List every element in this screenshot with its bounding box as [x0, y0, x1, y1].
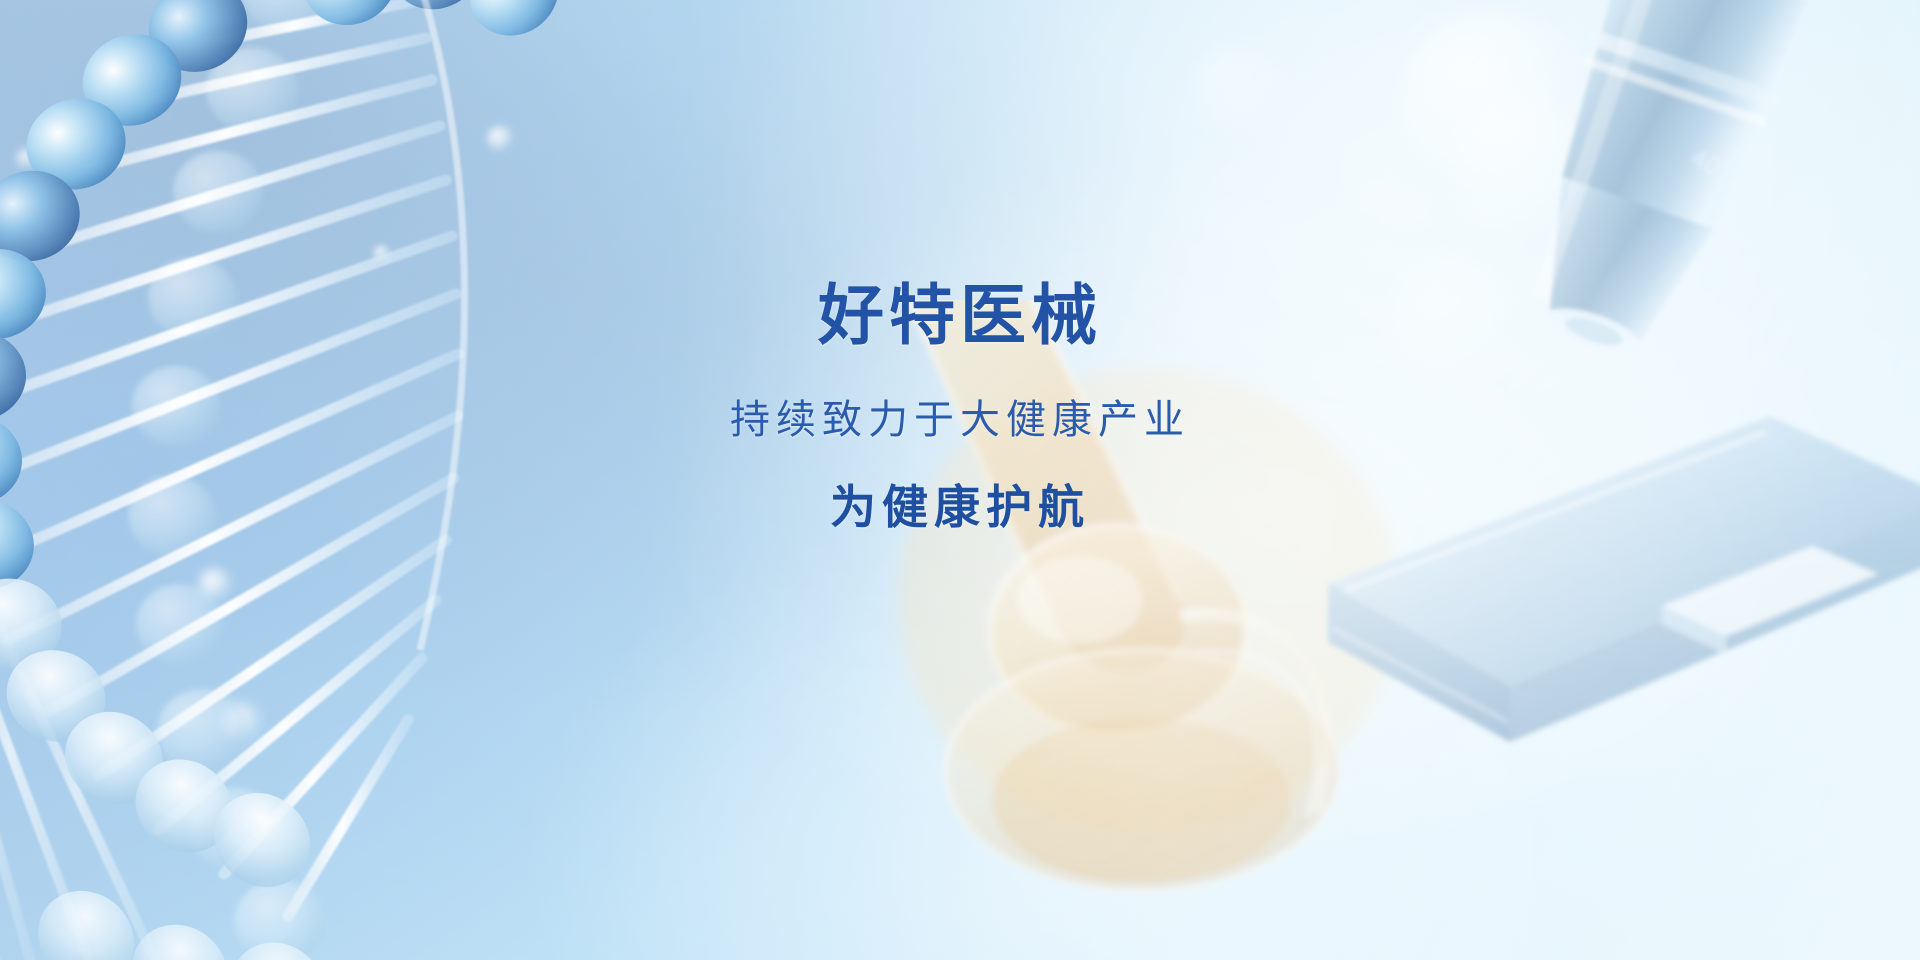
hero-banner: 40 [0, 0, 1920, 960]
tagline-text: 为健康护航 [0, 484, 1920, 530]
headline-copy-block: 好特医械 持续致力于大健康产业 为健康护航 [0, 282, 1920, 530]
subtitle-text: 持续致力于大健康产业 [0, 400, 1920, 440]
page-title: 好特医械 [0, 282, 1920, 348]
